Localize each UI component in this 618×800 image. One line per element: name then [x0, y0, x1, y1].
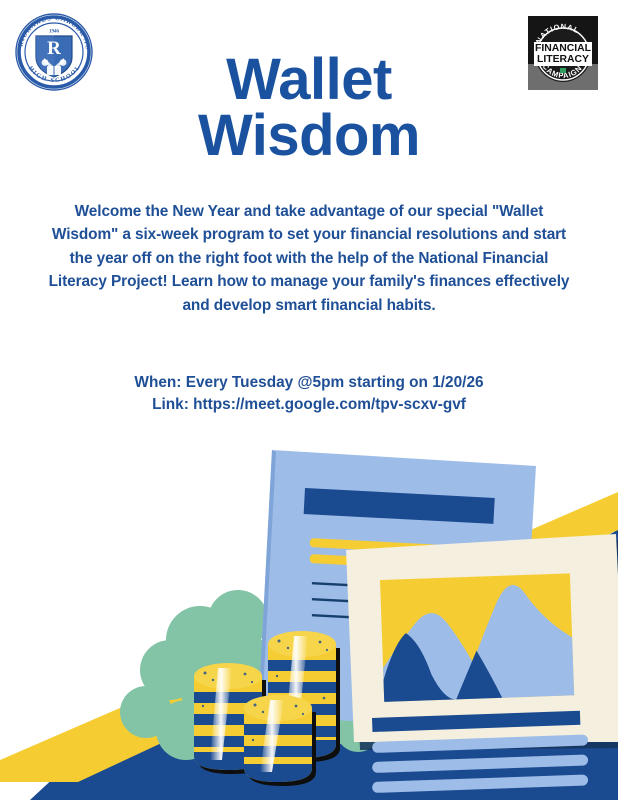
page-title: Wallet Wisdom [0, 52, 618, 163]
link-line[interactable]: Link: https://meet.google.com/tpv-scxv-g… [44, 394, 574, 416]
coin-stack-front [244, 695, 316, 786]
when-line: When: Every Tuesday @5pm starting on 1/2… [44, 372, 574, 394]
poster-canvas: RICHARDS CAREER ACADEMY HIGH SCHOOL 1946… [0, 0, 618, 800]
body-paragraph: Welcome the New Year and take advantage … [44, 200, 574, 317]
svg-text:1946: 1946 [49, 30, 60, 35]
finance-illustration [0, 430, 618, 800]
title-line-2: Wisdom [0, 108, 618, 164]
event-details: When: Every Tuesday @5pm starting on 1/2… [44, 372, 574, 416]
